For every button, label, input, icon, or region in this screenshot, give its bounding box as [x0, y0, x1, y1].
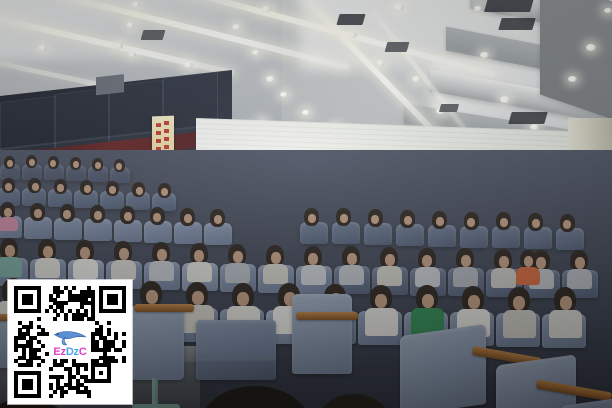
ceiling-vent [498, 18, 535, 30]
ceiling-downlight [126, 22, 135, 28]
seat-armrest [134, 304, 194, 312]
ceiling-downlight [394, 4, 404, 11]
ceiling-downlight [604, 8, 612, 13]
ceiling-downlight [412, 76, 421, 82]
ceiling-vent [439, 104, 459, 112]
ceiling-downlight [232, 24, 241, 30]
ceiling-downlight [38, 45, 47, 51]
bird-logo-icon [53, 328, 87, 347]
seat-armrest [296, 312, 358, 320]
ceiling-downlight [252, 50, 260, 55]
seat-empty [130, 306, 184, 380]
seat-row [0, 176, 612, 204]
ceiling-vent [141, 30, 166, 40]
ceiling-downlight [480, 52, 489, 58]
seat-empty [400, 324, 486, 408]
ceiling-vent [385, 42, 410, 52]
qr-brand-text: EzDzC [53, 347, 86, 358]
seat-leg-base [132, 404, 180, 408]
ceiling-downlight [500, 96, 510, 103]
ceiling-downlight [266, 76, 275, 82]
brand-part-2: Dz [66, 346, 79, 358]
ceiling-downlight [474, 6, 482, 11]
ceiling-downlight [280, 92, 288, 97]
ceiling-downlight [132, 2, 140, 7]
ceiling-downlight [128, 52, 136, 57]
brand-part-1: Ez [53, 346, 65, 358]
ceiling-vent [484, 0, 534, 12]
ceiling-downlight [302, 110, 310, 115]
ceiling-downlight [348, 32, 357, 38]
ceiling-downlight [114, 43, 123, 49]
ceiling-downlight [262, 6, 271, 12]
ceiling-downlight [586, 44, 596, 51]
ceiling-downlight [376, 60, 385, 66]
ceiling-vent [508, 112, 547, 124]
ceiling-vent [336, 14, 365, 25]
wall-panel [96, 74, 124, 95]
seat-leg [152, 378, 158, 406]
seat-cushion-shadow [196, 358, 276, 380]
ceiling-downlight [568, 76, 577, 82]
photo-canvas: EzDzC [0, 0, 612, 408]
qr-brand-logo: EzDzC [49, 321, 91, 359]
brand-part-3: C [79, 346, 87, 358]
qr-code-watermark[interactable]: EzDzC [8, 280, 132, 404]
ceiling-downlight [184, 62, 193, 68]
seat-empty [292, 294, 352, 374]
